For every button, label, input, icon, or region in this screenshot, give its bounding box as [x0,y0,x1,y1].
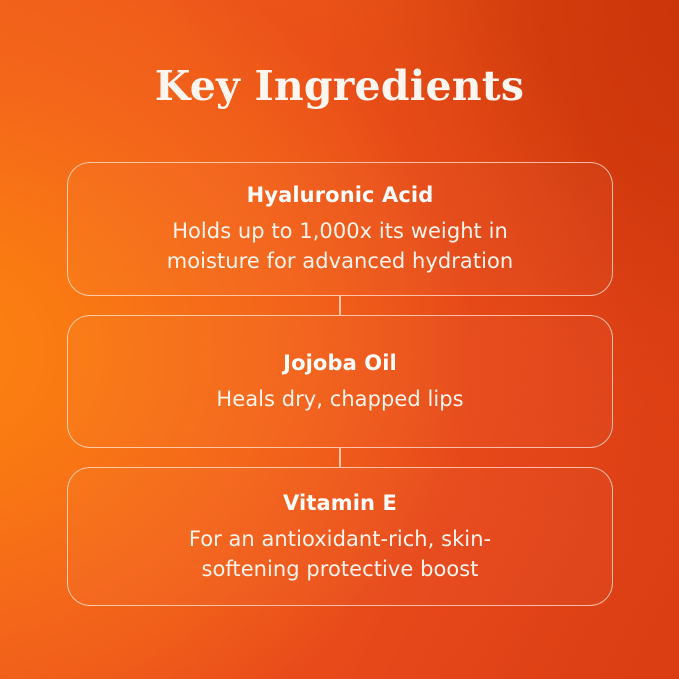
ingredient-description: Holds up to 1,000x its weight in moistur… [140,216,540,276]
ingredient-card-list: Hyaluronic Acid Holds up to 1,000x its w… [67,162,613,606]
key-ingredients-poster: Key Ingredients Hyaluronic Acid Holds up… [0,0,679,679]
ingredient-name: Jojoba Oil [283,350,397,376]
ingredient-card-vitamin-e[interactable]: Vitamin E For an antioxidant-rich, skin-… [67,467,613,606]
ingredient-card-jojoba-oil[interactable]: Jojoba Oil Heals dry, chapped lips [67,315,613,448]
card-connector-line-1 [339,296,341,315]
ingredient-name: Hyaluronic Acid [247,182,434,208]
ingredient-card-hyaluronic-acid[interactable]: Hyaluronic Acid Holds up to 1,000x its w… [67,162,613,296]
card-connector-line-2 [339,448,341,467]
ingredient-name: Vitamin E [283,490,397,516]
page-title: Key Ingredients [0,60,679,112]
ingredient-description: For an antioxidant-rich, skin-softening … [140,524,540,584]
ingredient-description: Heals dry, chapped lips [216,384,463,414]
